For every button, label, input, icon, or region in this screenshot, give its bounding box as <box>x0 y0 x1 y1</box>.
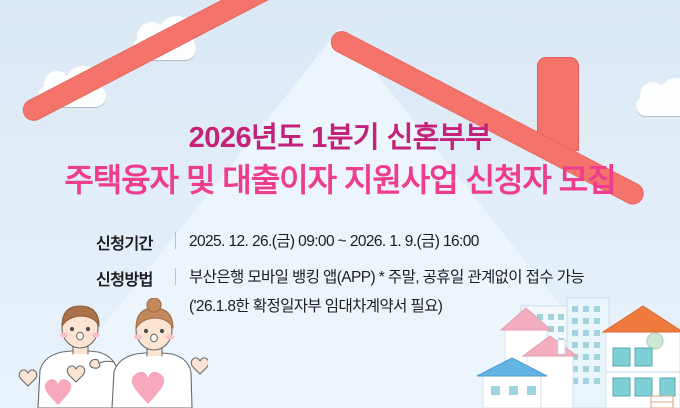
info-row-application-period: 신청기간 2025. 12. 26.(금) 09:00 ~ 2026. 1. 9… <box>0 230 680 254</box>
cloud-icon <box>636 96 680 116</box>
divider <box>175 268 176 285</box>
info-label: 신청방법 <box>96 266 162 290</box>
info-block: 신청기간 2025. 12. 26.(금) 09:00 ~ 2026. 1. 9… <box>0 230 680 316</box>
info-row-application-method: 신청방법 부산은행 모바일 뱅킹 앱(APP) * 주말, 공휴일 관계없이 접… <box>0 266 680 290</box>
info-value: 부산은행 모바일 뱅킹 앱(APP) * 주말, 공휴일 관계없이 접수 가능 <box>189 266 584 290</box>
info-value: 2025. 12. 26.(금) 09:00 ~ 2026. 1. 9.(금) … <box>189 230 479 254</box>
info-label: 신청기간 <box>96 230 162 254</box>
divider <box>175 232 176 249</box>
announcement-banner: 2026년도 1분기 신혼부부 주택융자 및 대출이자 지원사업 신청자 모집 … <box>0 0 680 408</box>
title-block: 2026년도 1분기 신혼부부 주택융자 및 대출이자 지원사업 신청자 모집 <box>0 122 680 199</box>
page-title-line-1: 2026년도 1분기 신혼부부 <box>0 122 680 155</box>
page-title-line-2: 주택융자 및 대출이자 지원사업 신청자 모집 <box>0 162 680 199</box>
info-note: ('26.1.8한 확정일자부 임대차계약서 필요) <box>0 294 680 316</box>
